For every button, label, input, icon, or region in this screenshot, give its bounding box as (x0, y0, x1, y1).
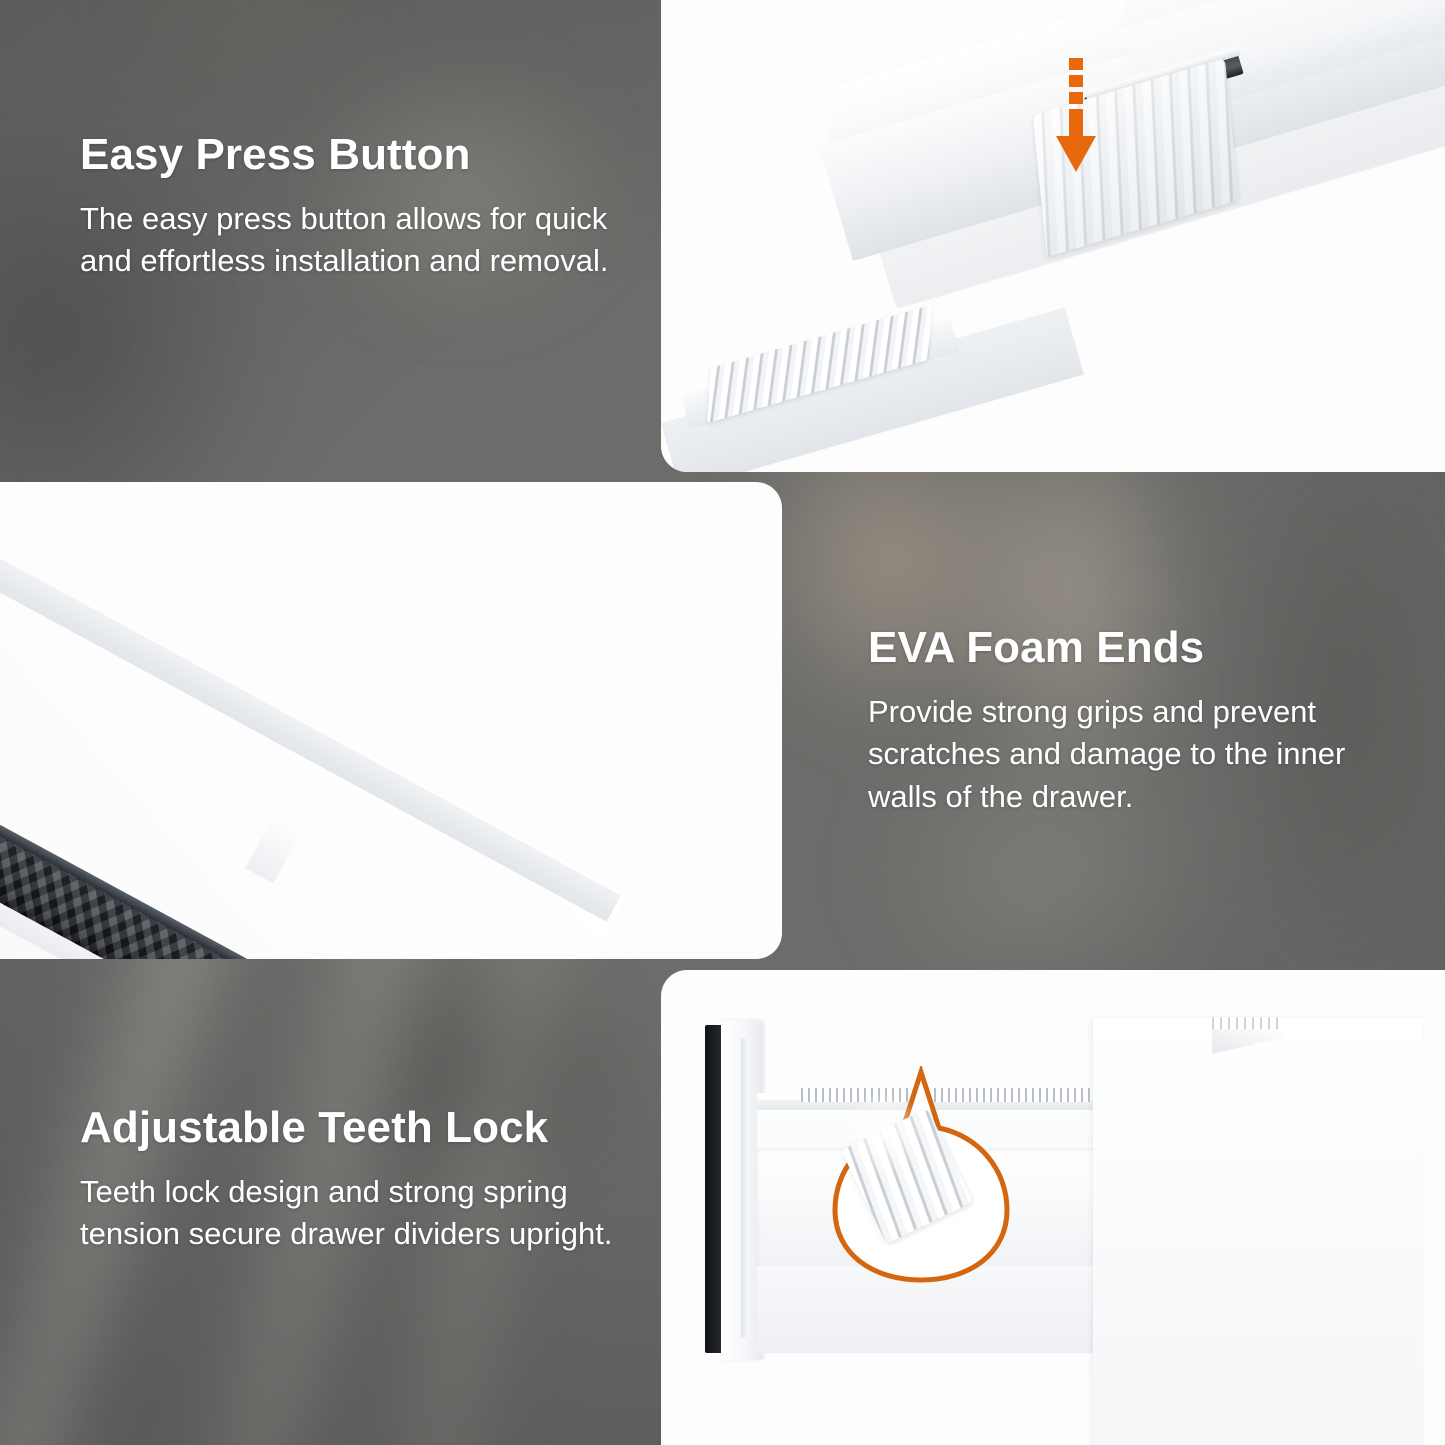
callout-highlight-glow (841, 1092, 927, 1178)
press-button-illustration (661, 0, 1445, 472)
infographic-canvas: Easy Press Button The easy press button … (0, 0, 1445, 1445)
eva-foam-illustration (0, 482, 782, 959)
feature-description: Provide strong grips and prevent scratch… (868, 691, 1388, 817)
feature-title: Adjustable Teeth Lock (80, 1105, 640, 1151)
feature-photo-adjustable-teeth-lock (661, 970, 1445, 1445)
feature-text-easy-press-button: Easy Press Button The easy press button … (80, 132, 620, 283)
feature-description: Teeth lock design and strong spring tens… (80, 1171, 640, 1255)
end-cap-ridge (741, 1038, 748, 1338)
magnifier-callout-icon (821, 1066, 1021, 1286)
feature-title: EVA Foam Ends (868, 625, 1388, 671)
feature-photo-easy-press-button (661, 0, 1445, 472)
feature-title: Easy Press Button (80, 132, 620, 178)
divider-main-slab (1093, 1018, 1423, 1445)
feature-text-eva-foam-ends: EVA Foam Ends Provide strong grips and p… (868, 625, 1388, 818)
feature-text-adjustable-teeth-lock: Adjustable Teeth Lock Teeth lock design … (80, 1105, 640, 1256)
down-arrow-icon (1054, 58, 1098, 174)
press-button-tab (1212, 1017, 1284, 1029)
feature-photo-eva-foam-ends (0, 482, 782, 959)
teeth-lock-illustration (661, 970, 1445, 1445)
feature-description: The easy press button allows for quick a… (80, 198, 620, 282)
